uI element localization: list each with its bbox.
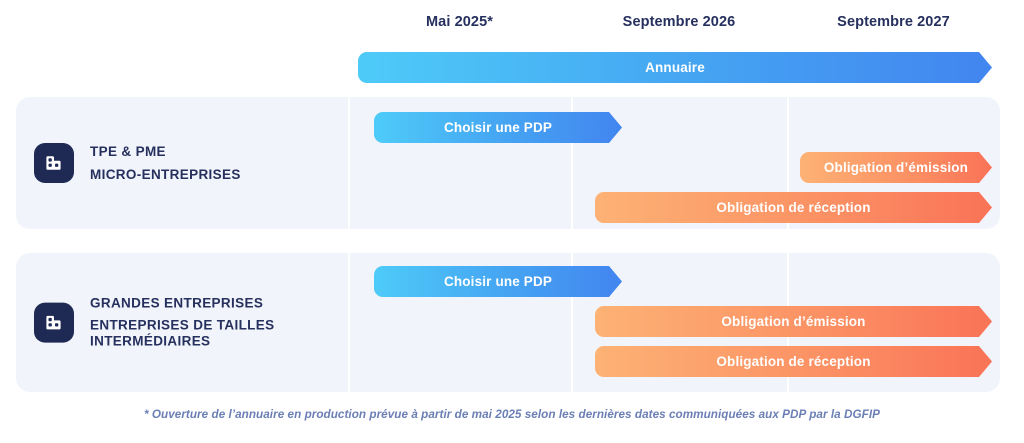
category-title-line-1: GRANDES ENTREPRISES: [90, 295, 274, 311]
category-title-line-2: MICRO-ENTREPRISES: [90, 167, 241, 183]
bar-obligation-reception-ge: Obligation de réception: [595, 346, 992, 377]
bar-choisir-une-pdp-ge-label: Choisir une PDP: [434, 275, 562, 289]
category-panel-tpe-pme: TPE & PME MICRO-ENTREPRISES Choisir une …: [16, 97, 1000, 229]
milestone-label-septembre-2026: Septembre 2026: [571, 14, 787, 38]
company-building-icon: [34, 143, 74, 183]
category-title-grandes-entreprises: GRANDES ENTREPRISES ENTREPRISES DE TAILL…: [90, 295, 274, 350]
bar-obligation-emission-ge-label: Obligation d’émission: [711, 315, 875, 329]
milestone-label-septembre-2027: Septembre 2027: [787, 14, 1000, 38]
bar-obligation-reception-ge-label: Obligation de réception: [706, 355, 880, 369]
column-divider-1: [348, 253, 350, 392]
footnote-text: * Ouverture de l’annuaire en production …: [0, 408, 1024, 421]
category-title-tpe-pme: TPE & PME MICRO-ENTREPRISES: [90, 144, 241, 183]
bar-choisir-une-pdp-ge: Choisir une PDP: [374, 266, 622, 297]
column-divider-1: [348, 97, 350, 229]
bar-choisir-une-pdp-tpe: Choisir une PDP: [374, 112, 622, 143]
milestone-label-mai-2025: Mai 2025*: [348, 14, 571, 38]
bar-obligation-emission-ge: Obligation d’émission: [595, 306, 992, 337]
company-building-icon: [34, 302, 74, 342]
category-label-block-grandes-entreprises: GRANDES ENTREPRISES ENTREPRISES DE TAILL…: [34, 295, 274, 350]
bar-obligation-emission-tpe-label: Obligation d’émission: [814, 161, 978, 175]
category-title-line-1: TPE & PME: [90, 144, 241, 160]
bar-obligation-emission-tpe: Obligation d’émission: [800, 152, 992, 183]
category-panel-grandes-entreprises: GRANDES ENTREPRISES ENTREPRISES DE TAILL…: [16, 253, 1000, 392]
bar-annuaire-label: Annuaire: [635, 61, 715, 75]
category-label-block-tpe-pme: TPE & PME MICRO-ENTREPRISES: [34, 143, 241, 183]
infographic-root: Mai 2025* Septembre 2026 Septembre 2027 …: [0, 0, 1024, 443]
bar-obligation-reception-tpe: Obligation de réception: [595, 192, 992, 223]
category-title-line-2: ENTREPRISES DE TAILLES INTERMÉDIAIRES: [90, 318, 274, 350]
bar-choisir-une-pdp-tpe-label: Choisir une PDP: [434, 121, 562, 135]
bar-obligation-reception-tpe-label: Obligation de réception: [706, 201, 880, 215]
bar-annuaire: Annuaire: [358, 52, 992, 83]
